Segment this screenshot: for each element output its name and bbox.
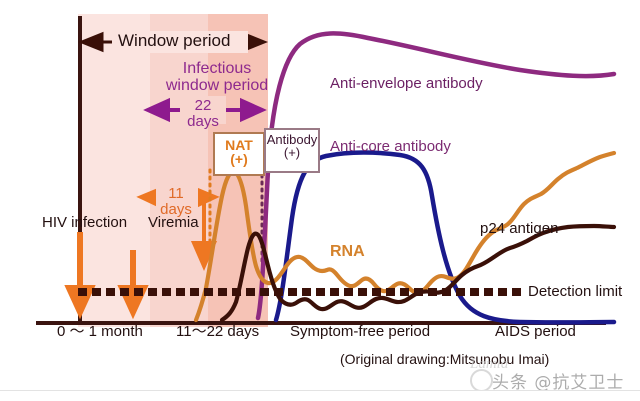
credit-text: (Original drawing:Mitsunobu Imai) <box>340 352 549 367</box>
hiv-infection-arrow <box>69 232 91 312</box>
label-anti-core-antibody: Anti-core antibody <box>330 139 451 155</box>
infectious-start-arrow <box>122 250 144 312</box>
label-hiv-infection: HIV infection <box>42 215 127 231</box>
label-anti-envelope-antibody: Anti-envelope antibody <box>330 76 483 92</box>
x-axis-label-1: 11～22 days <box>176 324 259 340</box>
x-axis-label-3: AIDS period <box>495 324 576 340</box>
callout-antibody-text: Antibody (+) <box>266 133 318 159</box>
label-viremia: Viremia <box>148 215 199 231</box>
label-rna: RNA <box>330 243 365 260</box>
callout-nat-text: NAT (+) <box>215 138 263 166</box>
label-infectious-window: Infectious window period <box>152 60 282 95</box>
x-axis-label-2: Symptom-free period <box>290 324 430 340</box>
watermark: Lamia 头条 @抗艾卫士 <box>470 366 635 392</box>
x-axis-label-0: 0 ～ 1 month <box>57 324 143 340</box>
callout-nat-positive: NAT (+) <box>213 132 265 176</box>
label-p24-antigen: p24 antigen <box>480 221 558 237</box>
label-detection-limit: Detection limit <box>528 284 622 300</box>
label-window-period: Window period <box>118 32 230 50</box>
figure-root: Window period Infectious window period 2… <box>0 0 640 400</box>
bottom-white-bar <box>0 390 640 401</box>
callout-antibody-positive: Antibody (+) <box>264 128 320 173</box>
label-22-days: 22 days <box>186 98 220 130</box>
